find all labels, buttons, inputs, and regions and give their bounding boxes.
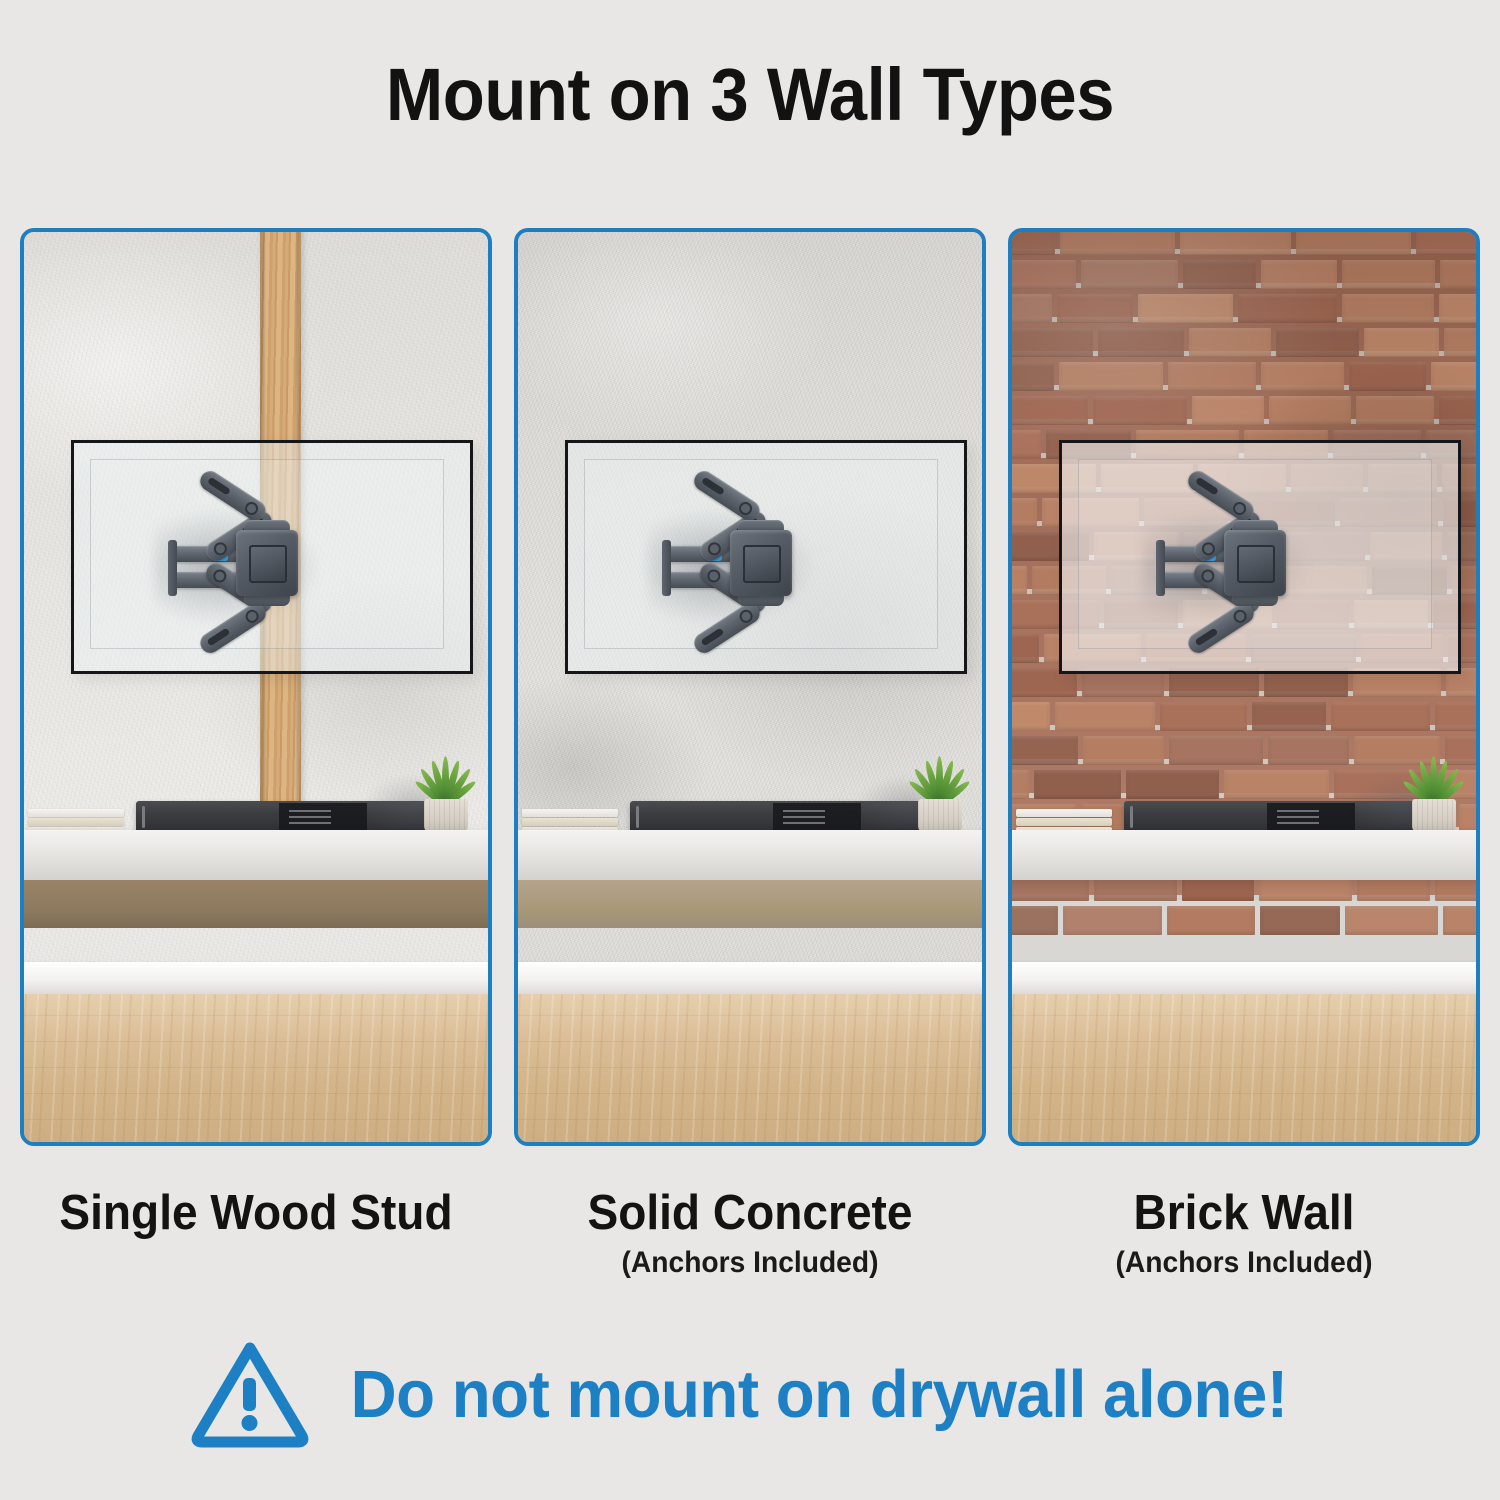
potted-plant	[408, 747, 482, 833]
scene-wood-stud	[24, 232, 488, 1142]
brick	[1057, 294, 1134, 323]
brick	[1268, 736, 1350, 765]
brick	[1012, 260, 1076, 289]
floating-shelf	[24, 830, 488, 880]
caption-title: Single Wood Stud	[34, 1188, 478, 1240]
mount-wall-plate	[1156, 540, 1165, 596]
baseboard	[24, 962, 488, 994]
brick	[1443, 906, 1476, 935]
caption-title: Solid Concrete	[528, 1188, 972, 1240]
shelf-under-band	[24, 880, 488, 928]
brick	[1160, 702, 1247, 731]
brick	[1180, 232, 1291, 255]
brick	[1012, 702, 1050, 731]
brick	[1012, 770, 1029, 799]
brick	[1168, 362, 1256, 391]
brick	[1440, 260, 1476, 289]
brick	[1012, 362, 1054, 391]
brick	[1364, 328, 1439, 357]
brick	[1083, 736, 1164, 765]
brick	[1342, 294, 1434, 323]
brick	[1012, 430, 1041, 459]
brick	[1269, 396, 1352, 425]
plant-leaves	[902, 743, 976, 805]
brick	[1345, 906, 1438, 935]
brick	[1059, 362, 1163, 391]
potted-plant	[902, 747, 976, 833]
wood-floor	[1012, 994, 1476, 1142]
brick	[1261, 362, 1344, 391]
panel-single-wood-stud[interactable]	[20, 228, 492, 1146]
warning-triangle-exclamation-icon	[188, 1338, 312, 1450]
potted-plant	[1396, 747, 1470, 833]
brick-row	[1012, 260, 1476, 289]
tv-wall-mount	[168, 490, 364, 634]
warning-text: Do not mount on drywall alone!	[351, 1361, 1288, 1428]
brick	[1192, 396, 1264, 425]
tv-wall-mount	[1156, 490, 1352, 634]
brick	[1012, 566, 1027, 595]
brick	[1342, 260, 1435, 289]
mount-center-hub	[236, 530, 298, 596]
floating-shelf	[518, 830, 982, 880]
floating-shelf	[1012, 830, 1476, 880]
caption-subtitle: (Anchors Included)	[1022, 1246, 1466, 1280]
wood-floor	[518, 994, 982, 1142]
wood-floor	[24, 994, 488, 1142]
plant-leaves	[408, 743, 482, 805]
brick	[1224, 770, 1329, 799]
mount-center-hub	[1224, 530, 1286, 596]
panel-solid-concrete[interactable]	[514, 228, 986, 1146]
scene-concrete	[518, 232, 982, 1142]
tv-wall-mount	[662, 490, 858, 634]
brick	[1060, 232, 1175, 255]
brick-row	[1012, 328, 1476, 357]
plant-pot	[1412, 799, 1456, 833]
brick	[1055, 702, 1154, 731]
brick	[1012, 736, 1078, 765]
plant-pot	[424, 799, 468, 833]
brick	[1012, 396, 1088, 425]
shelf-under-band	[518, 880, 982, 928]
brick	[1012, 498, 1037, 527]
brick	[1416, 232, 1476, 255]
plant-pot	[918, 799, 962, 833]
wall-type-panel-row	[20, 228, 1480, 1146]
brick	[1435, 702, 1476, 731]
mount-wall-plate	[662, 540, 671, 596]
page-title: Mount on 3 Wall Types	[53, 58, 1448, 132]
brick	[1296, 232, 1411, 255]
brick	[1012, 906, 1058, 935]
caption-title: Brick Wall	[1022, 1188, 1466, 1240]
brick	[1167, 906, 1255, 935]
baseboard	[1012, 962, 1476, 994]
mount-center-hub	[730, 530, 792, 596]
caption-subtitle: (Anchors Included)	[528, 1246, 972, 1280]
caption-solid-concrete: Solid Concrete (Anchors Included)	[514, 1188, 986, 1280]
brick	[1012, 294, 1052, 323]
soundbar-display-panel	[773, 803, 861, 831]
brick	[1252, 702, 1326, 731]
brick	[1063, 906, 1162, 935]
brick	[1183, 260, 1256, 289]
brick	[1356, 396, 1434, 425]
brick-row	[1012, 906, 1476, 935]
brick	[1260, 906, 1341, 935]
brick	[1439, 396, 1476, 425]
brick	[1034, 770, 1120, 799]
baseboard	[518, 962, 982, 994]
brick	[1431, 362, 1476, 391]
caption-row: Single Wood Stud Solid Concrete (Anchors…	[20, 1188, 1480, 1280]
brick	[1138, 294, 1233, 323]
brick	[1261, 260, 1337, 289]
panel-brick-wall[interactable]	[1008, 228, 1480, 1146]
scene-brick	[1012, 232, 1476, 1142]
brick	[1093, 396, 1186, 425]
soundbar-display-panel	[279, 803, 367, 831]
plant-leaves	[1396, 743, 1470, 805]
caption-brick-wall: Brick Wall (Anchors Included)	[1008, 1188, 1480, 1280]
brick-row	[1012, 232, 1476, 255]
brick-row	[1012, 396, 1476, 425]
brick	[1081, 260, 1178, 289]
brick	[1126, 770, 1220, 799]
brick-row	[1012, 294, 1476, 323]
brick	[1439, 294, 1476, 323]
brick	[1189, 328, 1271, 357]
brick	[1238, 294, 1337, 323]
brick	[1012, 634, 1039, 663]
mount-wall-plate	[168, 540, 177, 596]
brick-row	[1012, 362, 1476, 391]
warning-banner: Do not mount on drywall alone!	[0, 1338, 1500, 1450]
brick	[1349, 362, 1426, 391]
brick	[1012, 232, 1055, 255]
caption-single-wood-stud: Single Wood Stud	[20, 1188, 492, 1280]
brick	[1169, 736, 1262, 765]
brick	[1331, 702, 1430, 731]
brick	[1276, 328, 1359, 357]
brick	[1444, 328, 1476, 357]
brick-row	[1012, 702, 1476, 731]
brick	[1012, 328, 1093, 357]
soundbar-display-panel	[1267, 803, 1355, 831]
brick	[1098, 328, 1184, 357]
